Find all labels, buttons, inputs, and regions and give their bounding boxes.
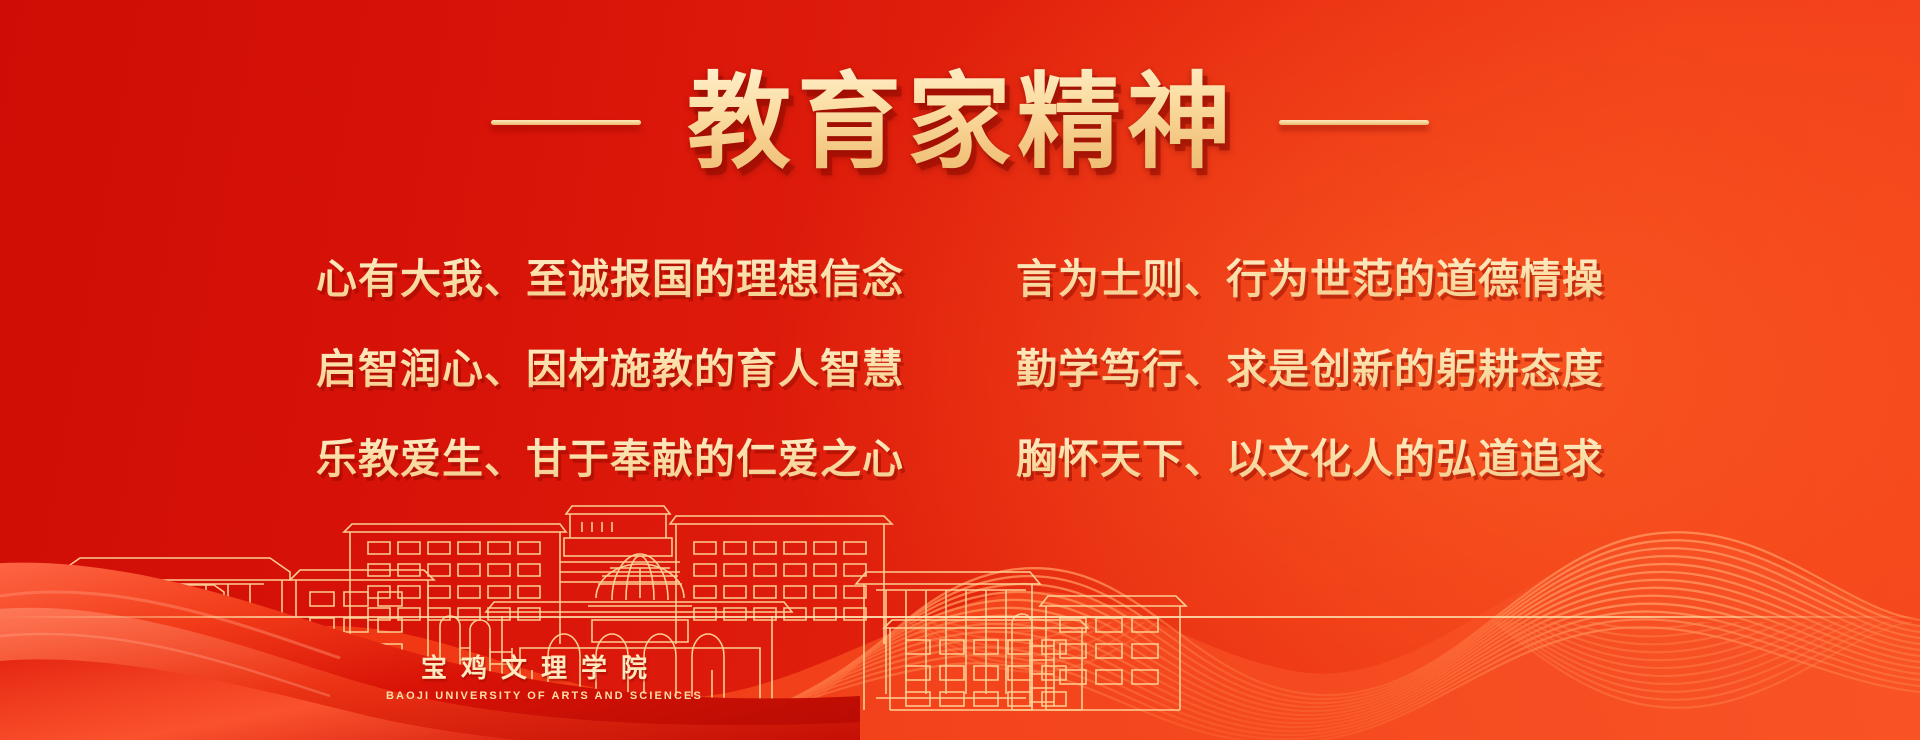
slogan-item: 言为士则、行为世范的道德情操 [1016,245,1604,313]
title-rule-right-icon [1279,120,1429,125]
slogan-item: 勤学笃行、求是创新的躬耕态度 [1016,335,1604,403]
waterline-divider [0,616,1920,618]
banner-root: 教育家精神 心有大我、至诚报国的理想信念 言为士则、行为世范的道德情操 启智润心… [0,0,1920,740]
slogan-item: 乐教爱生、甘于奉献的仁爱之心 [316,425,904,493]
university-name-cn: 宝鸡文理学院 [384,648,684,685]
slogan-item: 心有大我、至诚报国的理想信念 [316,245,904,313]
red-silk-ribbon-decoration [0,500,860,740]
university-wordmark: 宝鸡文理学院 BAOJI UNIVERSITY OF ARTS AND SCIE… [384,648,684,702]
title-rule-left-icon [491,120,641,125]
page-title: 教育家精神 [687,64,1237,180]
title-row: 教育家精神 [0,64,1920,180]
slogan-grid: 心有大我、至诚报国的理想信念 言为士则、行为世范的道德情操 启智润心、因材施教的… [0,245,1920,493]
slogan-item: 胸怀天下、以文化人的弘道追求 [1016,425,1604,493]
university-name-en: BAOJI UNIVERSITY OF ARTS AND SCIENCES [384,690,684,702]
slogan-item: 启智润心、因材施教的育人智慧 [316,335,904,403]
